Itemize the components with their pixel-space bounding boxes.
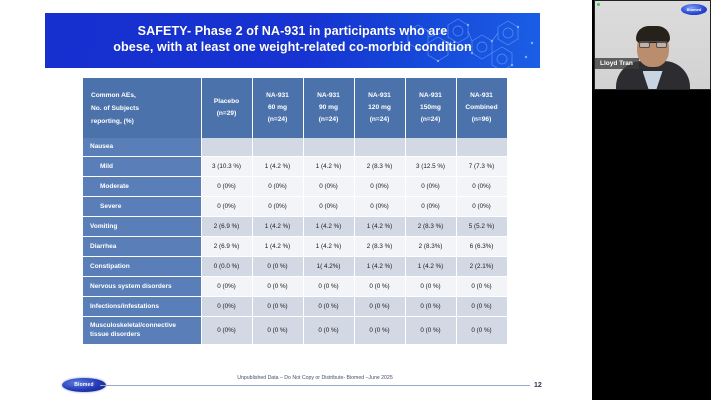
header-col-line: (n=24): [253, 114, 303, 126]
table-row: Mild3 (10.3 %)1 (4.2 %)1 (4.2 %)2 (8.3 %…: [83, 156, 507, 176]
slide-title-banner: SAFETY- Phase 2 of NA-931 in participant…: [45, 13, 540, 68]
header-col-line: NA-931: [304, 90, 354, 102]
header-label-line: reporting, (%): [91, 115, 201, 128]
data-cell: 2 (8.3 %): [405, 216, 456, 236]
data-cell: 0 (0%): [405, 176, 456, 196]
data-cell: 0 (0%): [201, 296, 252, 316]
corner-brand-logo-text: Biomed: [681, 4, 707, 15]
data-cell: 0 (0 %): [456, 276, 507, 296]
header-col-line: 150mg: [406, 102, 456, 114]
data-cell: 2 (6.9 %): [201, 216, 252, 236]
header-label-line: Common AEs,: [91, 89, 201, 102]
data-cell: 0 (0 %): [252, 316, 303, 344]
row-label-line: Diarrhea: [90, 242, 201, 251]
data-cell: 0 (0%): [456, 176, 507, 196]
row-label-line: Musculoskeletal/connective: [90, 321, 201, 330]
table-row: Diarrhea2 (6.9 %)1 (4.2 %)1 (4.2 %)2 (8.…: [83, 236, 507, 256]
data-cell: [354, 138, 405, 156]
row-label-line: Nausea: [90, 142, 201, 151]
data-cell: 0 (0%): [201, 196, 252, 216]
title-line-2: obese, with at least one weight-related …: [59, 39, 526, 55]
data-cell: [456, 138, 507, 156]
data-cell: 0 (0 %): [354, 276, 405, 296]
data-cell: 1( 4.2%): [303, 256, 354, 276]
page-title: SAFETY- Phase 2 of NA-931 in participant…: [45, 13, 540, 55]
data-cell: 0 (0 %): [303, 296, 354, 316]
data-cell: 0 (0%): [405, 196, 456, 216]
header-col-line: 120 mg: [355, 102, 405, 114]
data-cell: 1 (4.2 %): [252, 156, 303, 176]
row-label-line: Infections/infestations: [90, 302, 201, 311]
table-row: Severe0 (0%)0 (0%)0 (0%)0 (0%)0 (0%)0 (0…: [83, 196, 507, 216]
data-cell: 1 (4.2 %): [405, 256, 456, 276]
data-cell: 0 (0 %): [456, 296, 507, 316]
data-cell: 0 (0 %): [354, 296, 405, 316]
header-cell-col-4: NA-931150mg(n=24): [405, 78, 456, 138]
header-label-line: No. of Subjects: [91, 102, 201, 115]
header-col-line: (n=24): [406, 114, 456, 126]
row-label-cell: Nervous system disorders: [83, 276, 201, 296]
data-cell: 0 (0 %): [252, 296, 303, 316]
table-body: Common AEs,No. of Subjectsreporting, (%)…: [83, 78, 507, 344]
header-cell-col-1: NA-93160 mg(n=24): [252, 78, 303, 138]
row-label-line: Mild: [100, 162, 201, 171]
data-cell: 7 (7.3 %): [456, 156, 507, 176]
header-cell-col-2: NA-93190 mg(n=24): [303, 78, 354, 138]
data-cell: 0 (0%): [201, 176, 252, 196]
data-cell: 0 (0 %): [405, 316, 456, 344]
row-label-cell: Mild: [83, 156, 201, 176]
table-row: Musculoskeletal/connectivetissue disorde…: [83, 316, 507, 344]
header-cell-col-0: Placebo(n=29): [201, 78, 252, 138]
data-cell: 0 (0 %): [405, 276, 456, 296]
header-col-line: 60 mg: [253, 102, 303, 114]
data-cell: 0 (0%): [303, 196, 354, 216]
page-number: 12: [534, 382, 542, 389]
data-cell: [252, 138, 303, 156]
row-label-cell: Vomiting: [83, 216, 201, 236]
data-cell: 0 (0%): [354, 196, 405, 216]
glasses-icon: [639, 41, 667, 48]
screen-root: SAFETY- Phase 2 of NA-931 in participant…: [0, 0, 711, 400]
row-label-cell: Diarrhea: [83, 236, 201, 256]
row-label-cell: Severe: [83, 196, 201, 216]
row-label-line: Severe: [100, 202, 201, 211]
data-cell: 0 (0 %): [303, 276, 354, 296]
data-cell: 1 (4.2 %): [303, 156, 354, 176]
data-cell: 6 (6.3%): [456, 236, 507, 256]
data-cell: [201, 138, 252, 156]
header-col-line: (n=24): [355, 114, 405, 126]
data-cell: 1 (4.2 %): [252, 236, 303, 256]
header-cell-col-5: NA-931Combined(n=96): [456, 78, 507, 138]
header-col-line: NA-931: [457, 90, 507, 102]
data-cell: 3 (12.5 %): [405, 156, 456, 176]
row-label-cell: Constipation: [83, 256, 201, 276]
header-col-line: (n=24): [304, 114, 354, 126]
data-cell: 2 (8.3 %): [354, 156, 405, 176]
title-line-1: SAFETY- Phase 2 of NA-931 in participant…: [138, 24, 448, 38]
data-cell: 0 (0%): [456, 196, 507, 216]
table-row: Vomiting2 (6.9 %)1 (4.2 %)1 (4.2 %)1 (4.…: [83, 216, 507, 236]
data-cell: 0 (0 %): [405, 296, 456, 316]
data-cell: 2 (8.3 %): [354, 236, 405, 256]
header-col-line: 90 mg: [304, 102, 354, 114]
shared-slide: SAFETY- Phase 2 of NA-931 in participant…: [0, 0, 592, 400]
data-cell: 0 (0%): [303, 176, 354, 196]
table-row: Nausea: [83, 138, 507, 156]
header-cell-label: Common AEs,No. of Subjectsreporting, (%): [83, 78, 201, 138]
data-cell: 2 (8.3%): [405, 236, 456, 256]
data-cell: 0 (0%): [201, 276, 252, 296]
header-col-line: Placebo: [202, 96, 252, 108]
table-row: Moderate0 (0%)0 (0%)0 (0%)0 (0%)0 (0%)0 …: [83, 176, 507, 196]
data-cell: 1 (4.2 %): [354, 256, 405, 276]
row-label-line: Nervous system disorders: [90, 282, 201, 291]
data-cell: 1 (4.2 %): [354, 216, 405, 236]
table-row: Infections/infestations0 (0%)0 (0 %)0 (0…: [83, 296, 507, 316]
data-cell: 3 (10.3 %): [201, 156, 252, 176]
data-cell: 0 (0.0 %): [201, 256, 252, 276]
recording-indicator-icon: [597, 3, 600, 6]
footer-note: Unpublished Data – Do Not Copy or Distri…: [100, 375, 530, 381]
data-cell: 2 (2.1%): [456, 256, 507, 276]
data-cell: 0 (0%): [252, 176, 303, 196]
footer-divider: [100, 385, 530, 386]
data-cell: 5 (5.2 %): [456, 216, 507, 236]
row-label-cell: Infections/infestations: [83, 296, 201, 316]
data-cell: [303, 138, 354, 156]
data-cell: 1 (4.2 %): [252, 216, 303, 236]
row-label-cell: Musculoskeletal/connectivetissue disorde…: [83, 316, 201, 344]
data-cell: 0 (0%): [252, 196, 303, 216]
row-label-line: Constipation: [90, 262, 201, 271]
header-col-line: NA-931: [406, 90, 456, 102]
table-row: Constipation0 (0.0 %)0 (0 %)1( 4.2%)1 (4…: [83, 256, 507, 276]
row-label-cell: Nausea: [83, 138, 201, 156]
header-col-line: NA-931: [355, 90, 405, 102]
data-cell: 0 (0%): [201, 316, 252, 344]
adverse-events-table: Common AEs,No. of Subjectsreporting, (%)…: [83, 78, 508, 345]
data-cell: 0 (0 %): [303, 316, 354, 344]
row-label-line: tissue disorders: [90, 330, 201, 339]
header-col-line: NA-931: [253, 90, 303, 102]
data-cell: 0 (0%): [354, 176, 405, 196]
row-label-line: Moderate: [100, 182, 201, 191]
table-header-row: Common AEs,No. of Subjectsreporting, (%)…: [83, 78, 507, 138]
header-col-line: Combined: [457, 102, 507, 114]
row-label-line: Vomiting: [90, 222, 201, 231]
adverse-events-table-wrapper: Common AEs,No. of Subjectsreporting, (%)…: [83, 78, 507, 345]
data-cell: 1 (4.2 %): [303, 236, 354, 256]
data-cell: 0 (0 %): [252, 276, 303, 296]
header-col-line: (n=96): [457, 114, 507, 126]
participant-name-label: Lloyd Tran: [595, 58, 639, 69]
corner-brand-logo: Biomed: [681, 4, 707, 15]
video-participant-tile[interactable]: Lloyd Tran Biomed: [594, 0, 711, 90]
header-col-line: (n=29): [202, 108, 252, 120]
data-cell: [405, 138, 456, 156]
data-cell: 0 (0 %): [354, 316, 405, 344]
table-row: Nervous system disorders0 (0%)0 (0 %)0 (…: [83, 276, 507, 296]
data-cell: 1 (4.2 %): [303, 216, 354, 236]
header-cell-col-3: NA-931120 mg(n=24): [354, 78, 405, 138]
data-cell: 0 (0 %): [252, 256, 303, 276]
row-label-cell: Moderate: [83, 176, 201, 196]
data-cell: 0 (0 %): [456, 316, 507, 344]
data-cell: 2 (6.9 %): [201, 236, 252, 256]
